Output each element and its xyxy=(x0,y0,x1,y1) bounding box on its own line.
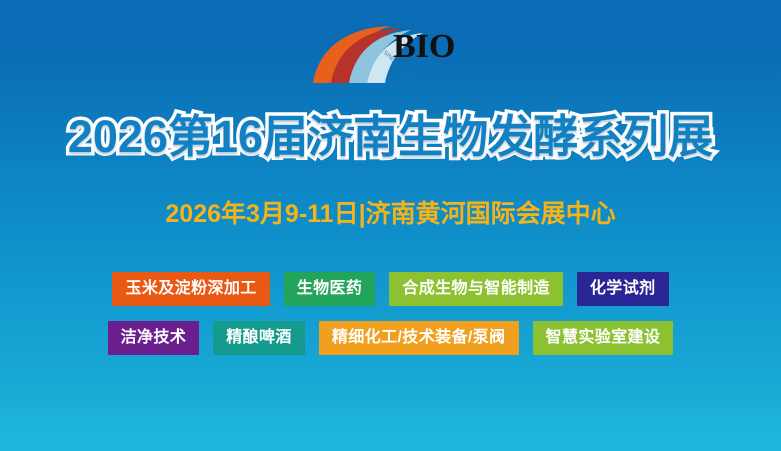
tag-chip[interactable]: 智慧实验室建设 xyxy=(533,321,674,355)
event-date-venue: 2026年3月9-11日|济南黄河国际会展中心 xyxy=(165,202,615,227)
svg-text:BIO: BIO xyxy=(393,28,455,65)
tag-chip[interactable]: 化学试剂 xyxy=(577,272,669,306)
tag-chip[interactable]: 生物医药 xyxy=(284,272,376,306)
tag-chip[interactable]: 洁净技术 xyxy=(108,321,200,355)
bio-logo: SINCE 2010 BIO xyxy=(305,23,477,89)
tag-list: 玉米及淀粉深加工 生物医药 合成生物与智能制造 化学试剂 洁净技术 精酿啤酒 精… xyxy=(0,272,781,370)
tag-chip[interactable]: 玉米及淀粉深加工 xyxy=(112,272,269,306)
subtitle-row: 2026年3月9-11日|济南黄河国际会展中心 xyxy=(0,196,781,232)
exhibition-banner: SINCE 2010 BIO 2026第16届济南生物发酵系列展 2026年3月… xyxy=(0,0,781,451)
main-title: 2026第16届济南生物发酵系列展 xyxy=(68,114,713,159)
tag-chip[interactable]: 精细化工/技术装备/泵阀 xyxy=(319,321,519,355)
bottom-fade xyxy=(0,393,781,451)
tag-chip[interactable]: 合成生物与智能制造 xyxy=(389,272,563,306)
logo-container: SINCE 2010 BIO xyxy=(0,20,781,92)
main-title-row: 2026第16届济南生物发酵系列展 xyxy=(0,105,781,167)
tag-row-2: 洁净技术 精酿啤酒 精细化工/技术装备/泵阀 智慧实验室建设 xyxy=(0,321,781,355)
tag-row-1: 玉米及淀粉深加工 生物医药 合成生物与智能制造 化学试剂 xyxy=(0,272,781,306)
tag-chip[interactable]: 精酿啤酒 xyxy=(213,321,305,355)
bio-logo-icon: SINCE 2010 BIO xyxy=(305,23,477,89)
